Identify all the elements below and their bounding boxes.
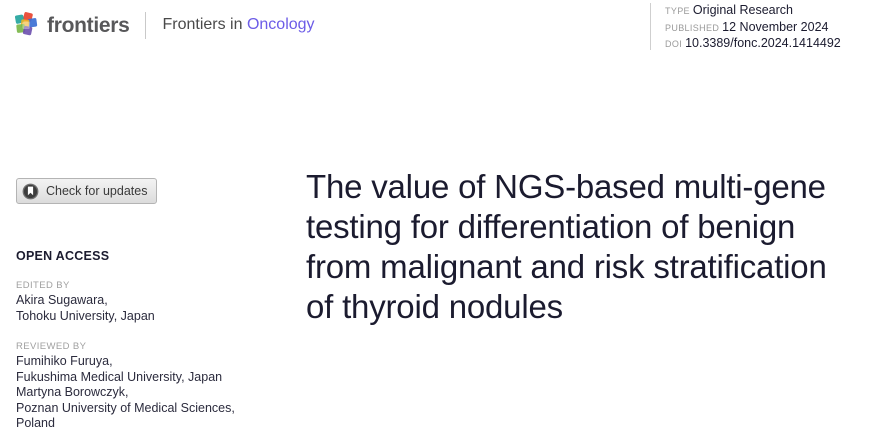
- meta-value-type: Original Research: [693, 3, 793, 17]
- reviewed-by-label: REVIEWED BY: [16, 340, 266, 353]
- edited-by-label: EDITED BY: [16, 279, 266, 292]
- editor-name: Akira Sugawara,: [16, 293, 266, 309]
- article-sidebar: Check for updates OPEN ACCESS EDITED BY …: [16, 178, 266, 432]
- brand-divider: [145, 12, 146, 39]
- reviewer-name-1: Fumihiko Furuya,: [16, 354, 266, 370]
- reviewer-name-2: Martyna Borowczyk,: [16, 385, 266, 401]
- journal-name: Frontiers in Oncology: [162, 17, 314, 33]
- reviewed-by-group: REVIEWED BY Fumihiko Furuya, Fukushima M…: [16, 340, 266, 432]
- reviewer-affiliation-1: Fukushima Medical University, Japan: [16, 370, 266, 386]
- brand-lockup[interactable]: frontiers Frontiers in Oncology: [14, 9, 315, 41]
- meta-row-doi: DOI10.3389/fonc.2024.1414492: [665, 36, 841, 53]
- meta-row-type: TYPEOriginal Research: [665, 3, 841, 20]
- meta-label-type: TYPE: [665, 6, 690, 16]
- crossmark-bookmark-icon: [22, 183, 39, 200]
- check-for-updates-label: Check for updates: [46, 185, 147, 198]
- meta-label-published: PUBLISHED: [665, 23, 719, 33]
- open-access-badge: OPEN ACCESS: [16, 250, 266, 263]
- meta-label-doi: DOI: [665, 39, 682, 49]
- frontiers-wordmark: frontiers: [47, 15, 129, 36]
- meta-value-published: 12 November 2024: [722, 20, 828, 34]
- editor-affiliation: Tohoku University, Japan: [16, 309, 266, 325]
- page-title: The value of NGS-based multi-gene testin…: [306, 167, 851, 327]
- reviewer-affiliation-2-line-1: Poznan University of Medical Sciences,: [16, 401, 266, 417]
- meta-row-published: PUBLISHED12 November 2024: [665, 20, 841, 37]
- edited-by-group: EDITED BY Akira Sugawara, Tohoku Univers…: [16, 279, 266, 324]
- article-meta-block: TYPEOriginal Research PUBLISHED12 Novemb…: [650, 3, 841, 50]
- meta-value-doi[interactable]: 10.3389/fonc.2024.1414492: [685, 36, 841, 50]
- reviewer-affiliation-2-line-2: Poland: [16, 416, 266, 432]
- journal-prefix: Frontiers in: [162, 16, 246, 33]
- check-for-updates-button[interactable]: Check for updates: [16, 178, 157, 204]
- frontiers-pinwheel-logo-icon: [14, 12, 40, 38]
- journal-link-oncology[interactable]: Oncology: [247, 16, 315, 33]
- page-header: frontiers Frontiers in Oncology TYPEOrig…: [0, 0, 874, 58]
